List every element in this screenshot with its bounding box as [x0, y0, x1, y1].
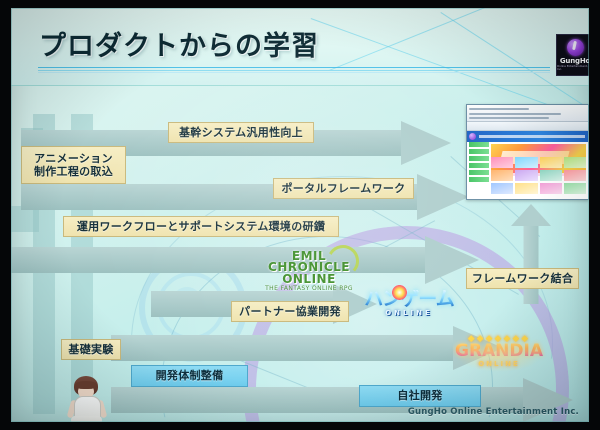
- character-sprite: [66, 376, 108, 422]
- label-animation-line1: アニメーション: [34, 152, 113, 165]
- arrow-workflow: [11, 236, 491, 284]
- photographed-slide: プロダクトからの学習 GungHo Online Entertainment, …: [0, 0, 600, 430]
- gungho-logo-tagline: Online Entertainment, Inc.: [557, 65, 589, 70]
- arrow-framework-to-site: [509, 204, 553, 304]
- gungho-orb-icon: [567, 39, 584, 56]
- title-rule: [38, 70, 550, 71]
- browser-toolbar: [467, 122, 588, 131]
- sparkle-icon: [392, 285, 407, 300]
- label-in-house[interactable]: 自社開発: [359, 385, 481, 407]
- label-workflow[interactable]: 運用ワークフローとサポートシステム環境の研鑽: [63, 216, 339, 237]
- site-nav-strip: [479, 135, 585, 138]
- gungho-logo: GungHo Online Entertainment, Inc.: [556, 34, 589, 76]
- title-rule: [38, 72, 550, 73]
- gungho-portal-screenshot[interactable]: [466, 104, 589, 200]
- page-title: プロダクトからの学習: [39, 24, 319, 63]
- label-core-system[interactable]: 基幹システム汎用性向上: [168, 122, 314, 143]
- label-animation-line2: 制作工程の取込: [34, 165, 113, 178]
- site-banner-grid: [491, 157, 586, 194]
- title-rule: [38, 67, 550, 68]
- gungho-logo-text: GungHo: [560, 57, 589, 65]
- label-animation[interactable]: アニメーション 制作工程の取込: [21, 146, 126, 184]
- presentation-slide: プロダクトからの学習 GungHo Online Entertainment, …: [11, 8, 589, 422]
- diagram-canvas: アニメーション 制作工程の取込 基幹システム汎用性向上 ポータルフレームワーク …: [11, 86, 589, 422]
- label-portal-framework[interactable]: ポータルフレームワーク: [273, 178, 414, 199]
- site-header-bar: [467, 131, 588, 142]
- site-sidebar: [469, 142, 489, 184]
- footer-credit: GungHo Online Entertainment Inc.: [408, 407, 579, 417]
- label-dev-structure[interactable]: 開発体制整備: [131, 365, 248, 387]
- site-logo-icon: [469, 133, 476, 140]
- label-basic-experiment[interactable]: 基礎実験: [61, 339, 121, 360]
- browser-chrome: [467, 105, 588, 122]
- arrow-partner-main: [111, 326, 511, 370]
- label-framework-union[interactable]: フレームワーク結合: [466, 268, 579, 289]
- slide-header: プロダクトからの学習 GungHo Online Entertainment, …: [11, 8, 589, 86]
- label-partner[interactable]: パートナー協業開発: [231, 301, 349, 322]
